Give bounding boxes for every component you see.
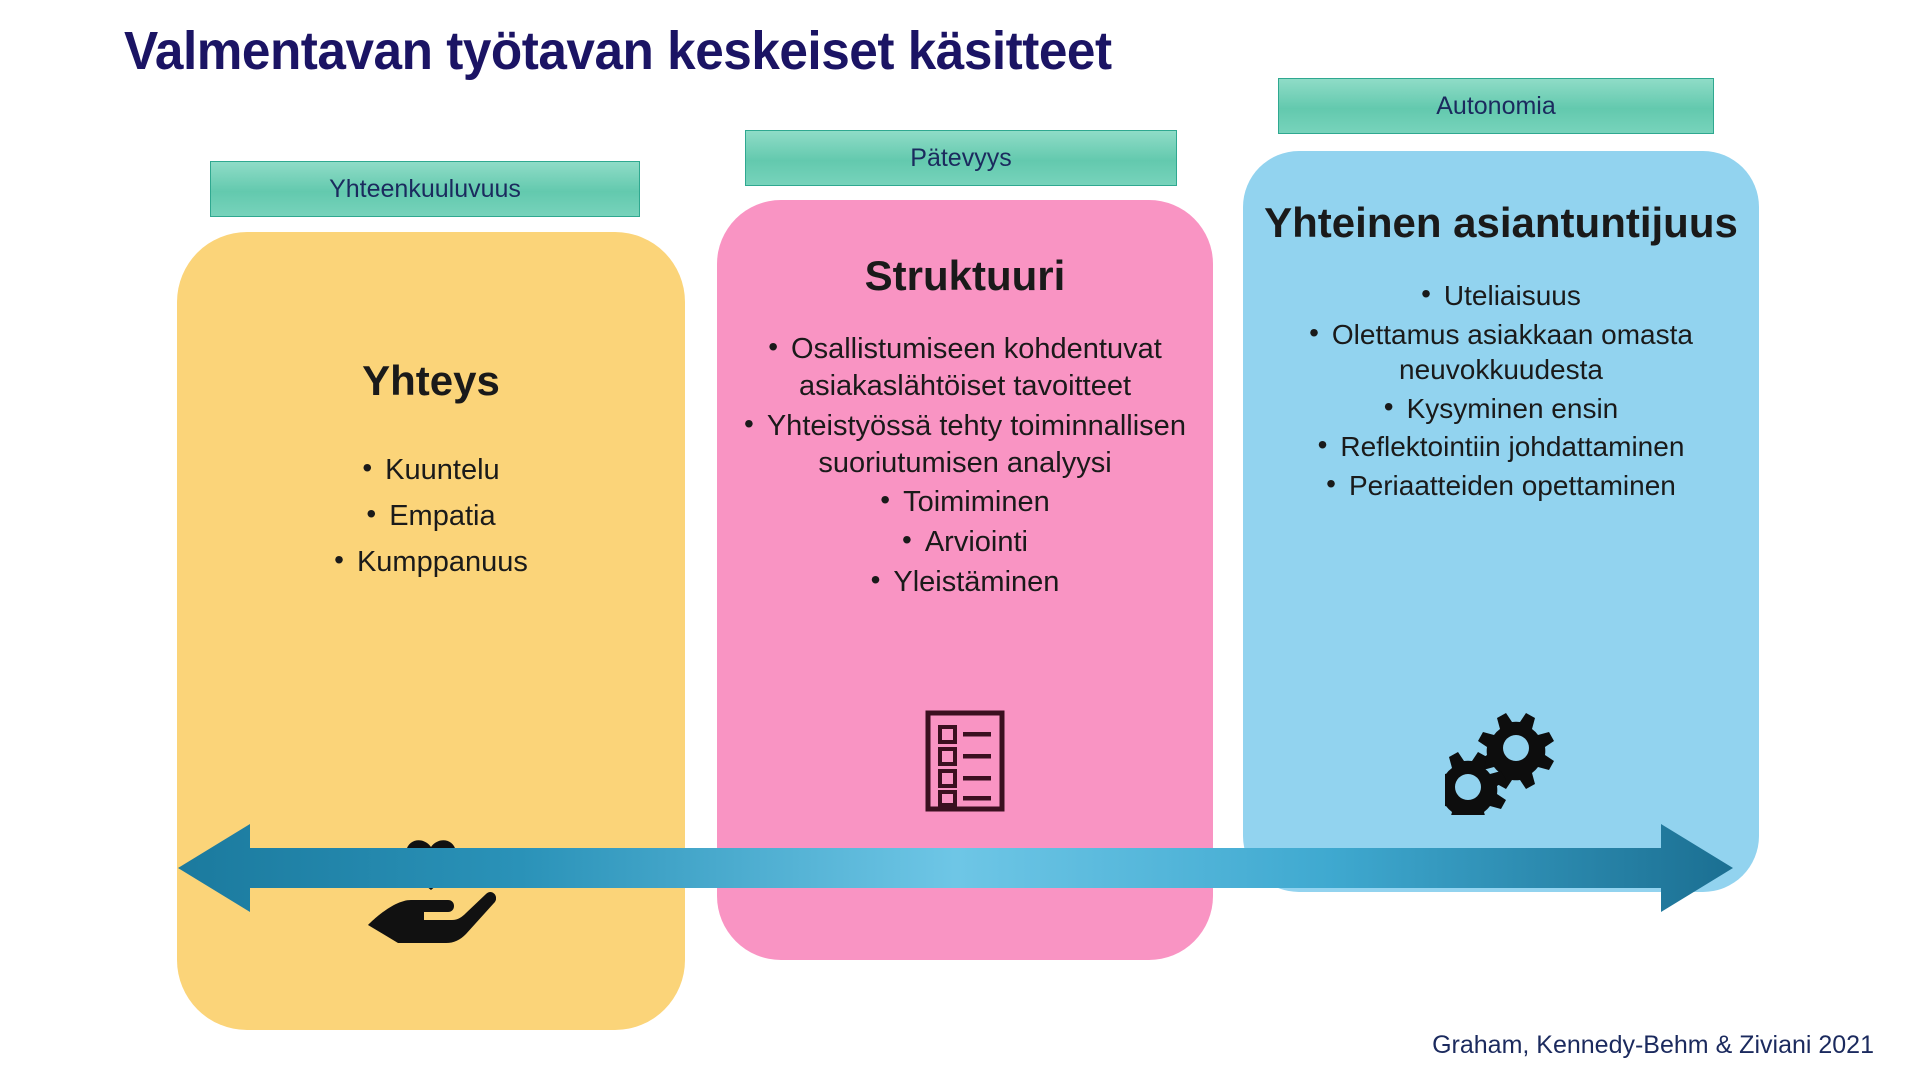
tab-label-patevyys: Pätevyys	[745, 130, 1177, 186]
list-item: •Yleistäminen	[743, 564, 1187, 601]
bullet-dot-icon: •	[334, 546, 344, 574]
card-heading: Yhteys	[177, 357, 685, 404]
list-item: •Empatia	[177, 498, 685, 535]
list-item: •Periaatteiden opettaminen	[1267, 468, 1735, 504]
list-item: •Osallistumiseen kohdentuvat asiakasläht…	[743, 331, 1187, 405]
list-item: •Toimiminen	[743, 484, 1187, 521]
bullet-list: •Uteliaisuus •Olettamus asiakkaan omasta…	[1243, 278, 1759, 503]
list-item-label: Olettamus asiakkaan omasta neuvokkuudest…	[1332, 319, 1693, 386]
checklist-document-icon	[717, 710, 1213, 812]
list-item: •Arviointi	[743, 524, 1187, 561]
credit-line: Graham, Kennedy-Behm & Ziviani 2021	[1432, 1031, 1874, 1060]
bullet-dot-icon: •	[1318, 431, 1328, 459]
list-item-label: Uteliaisuus	[1444, 280, 1581, 311]
slide-canvas: Valmentavan työtavan keskeiset käsitteet…	[0, 0, 1920, 1080]
list-item-label: Osallistumiseen kohdentuvat asiakaslähtö…	[791, 333, 1162, 402]
list-item: •Yhteistyössä tehty toiminnallisen suori…	[743, 408, 1187, 482]
page-title: Valmentavan työtavan keskeiset käsitteet	[124, 20, 1112, 82]
bullet-dot-icon: •	[768, 333, 778, 361]
list-item-label: Yhteistyössä tehty toiminnallisen suoriu…	[767, 410, 1186, 479]
bullet-dot-icon: •	[1309, 319, 1319, 347]
bullet-dot-icon: •	[871, 566, 881, 594]
list-item-label: Arviointi	[925, 526, 1028, 558]
list-item: •Kuuntelu	[177, 452, 685, 489]
list-item: •Kumppanuus	[177, 544, 685, 581]
list-item-label: Empatia	[389, 500, 495, 532]
tab-label-autonomia: Autonomia	[1278, 78, 1714, 134]
list-item-label: Kumppanuus	[357, 546, 528, 578]
bullet-list: •Kuuntelu •Empatia •Kumppanuus	[177, 452, 685, 580]
bullet-dot-icon: •	[362, 454, 372, 482]
list-item: •Olettamus asiakkaan omasta neuvokkuudes…	[1267, 317, 1735, 388]
list-item: •Reflektointiin johdattaminen	[1267, 429, 1735, 465]
list-item-label: Periaatteiden opettaminen	[1349, 470, 1676, 501]
list-item-label: Toimiminen	[903, 486, 1050, 518]
bullet-dot-icon: •	[880, 486, 890, 514]
card-heading: Struktuuri	[717, 252, 1213, 299]
bullet-dot-icon: •	[1326, 470, 1336, 498]
gears-icon	[1243, 711, 1759, 815]
tab-label-text: Yhteenkuuluvuus	[329, 175, 521, 204]
tab-label-yhteenkuuluvuus: Yhteenkuuluvuus	[210, 161, 640, 217]
bullet-list: •Osallistumiseen kohdentuvat asiakasläht…	[717, 331, 1213, 601]
card-heading: Yhteinen asiantuntijuus	[1243, 199, 1759, 246]
tab-label-text: Autonomia	[1436, 92, 1556, 121]
list-item-label: Kuuntelu	[385, 454, 500, 486]
list-item-label: Kysyminen ensin	[1407, 393, 1619, 424]
bullet-dot-icon: •	[1384, 393, 1394, 421]
double-headed-arrow-icon	[178, 822, 1733, 914]
list-item-label: Reflektointiin johdattaminen	[1340, 431, 1684, 462]
tab-label-text: Pätevyys	[910, 144, 1011, 173]
list-item: •Uteliaisuus	[1267, 278, 1735, 314]
bullet-dot-icon: •	[1421, 280, 1431, 308]
card-asiantuntijuus: Yhteinen asiantuntijuus •Uteliaisuus •Ol…	[1243, 151, 1759, 892]
list-item: •Kysyminen ensin	[1267, 391, 1735, 427]
bullet-dot-icon: •	[366, 500, 376, 528]
bullet-dot-icon: •	[744, 410, 754, 438]
list-item-label: Yleistäminen	[893, 566, 1059, 598]
bullet-dot-icon: •	[902, 526, 912, 554]
